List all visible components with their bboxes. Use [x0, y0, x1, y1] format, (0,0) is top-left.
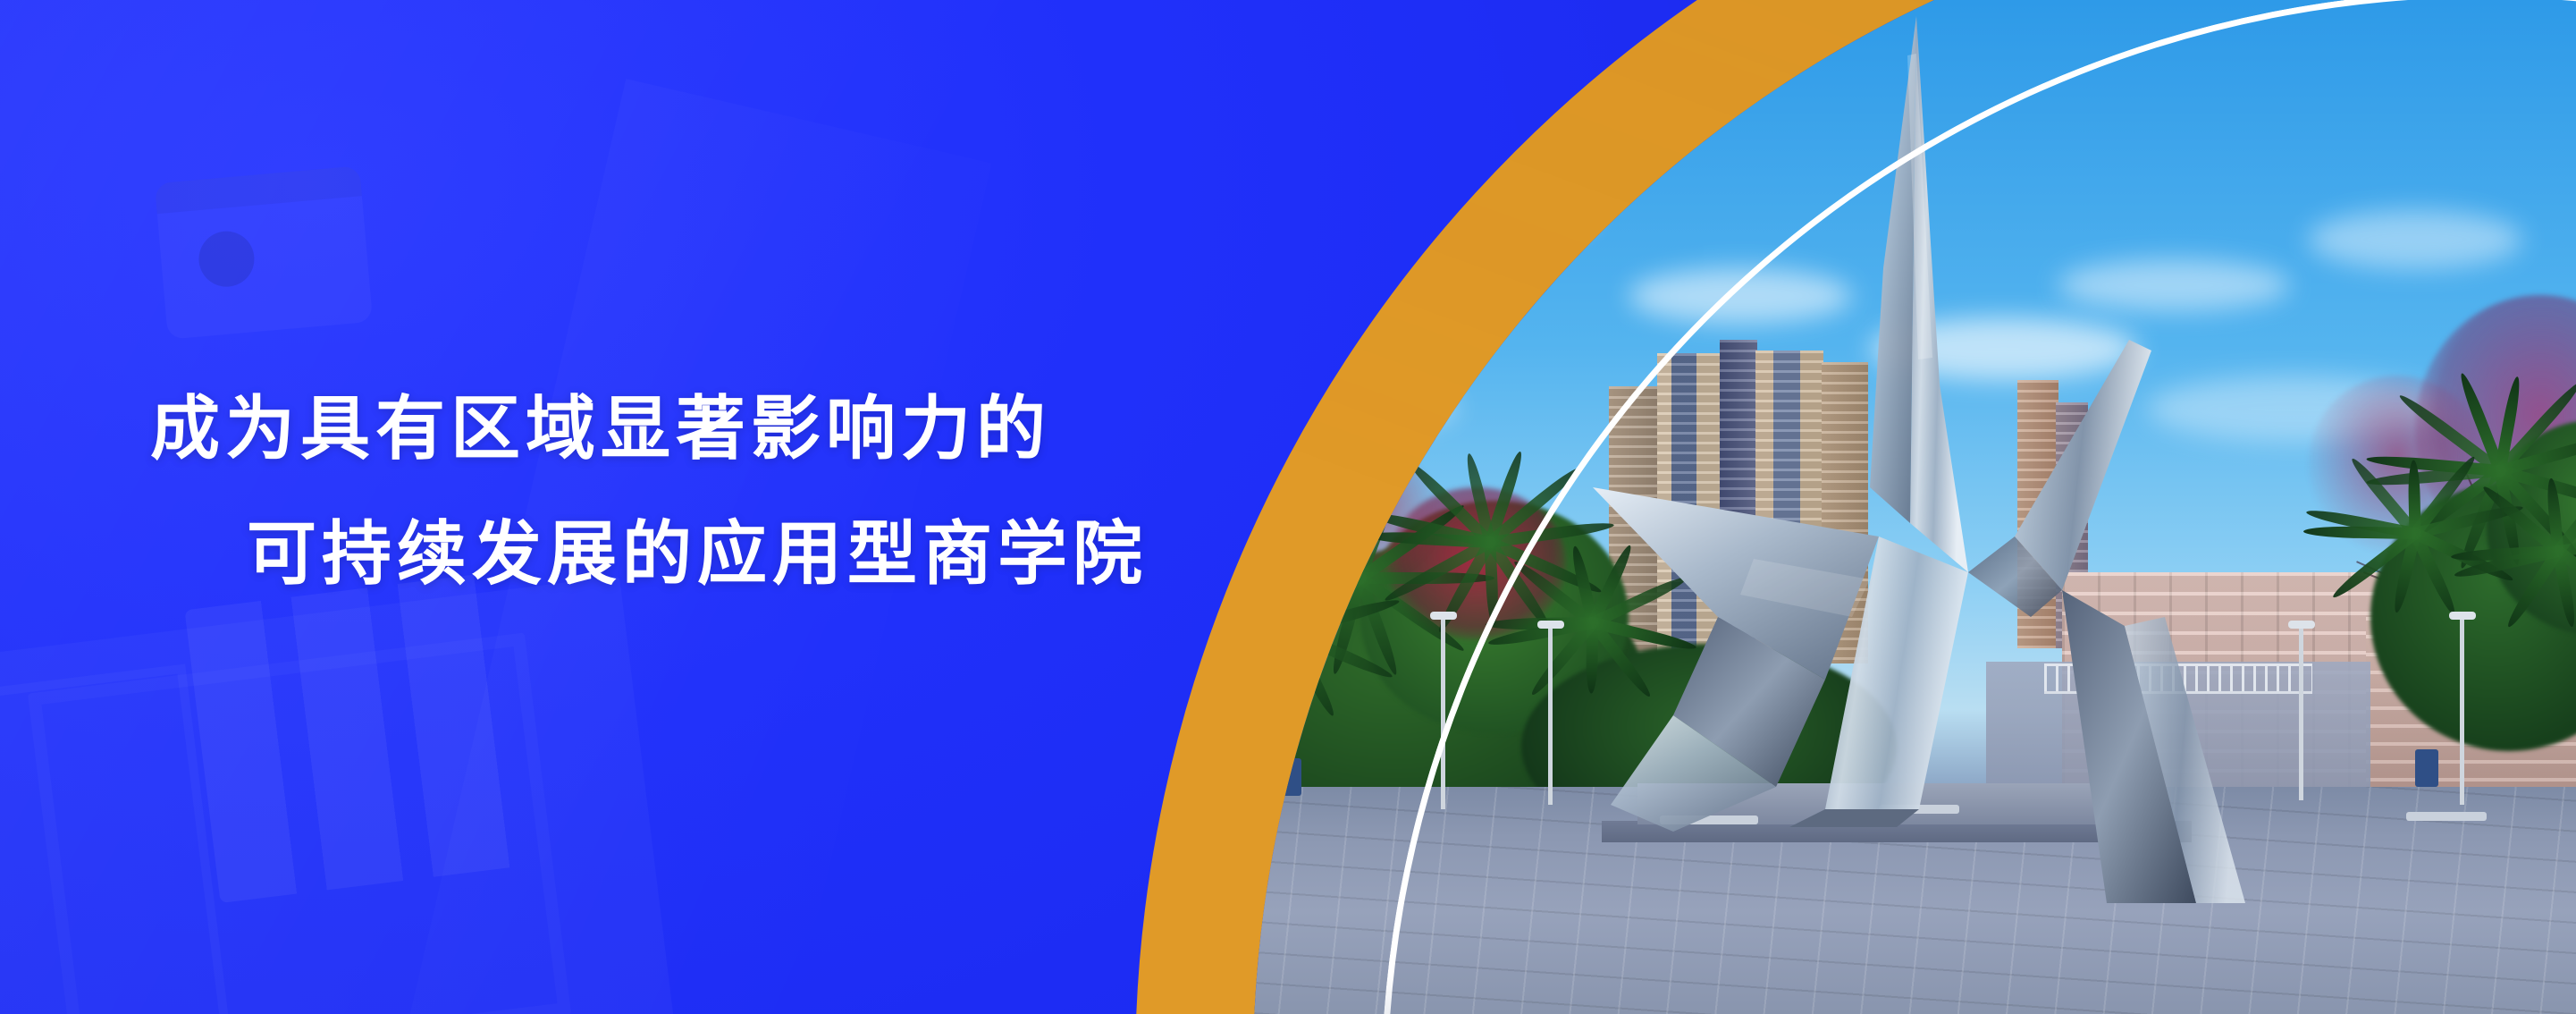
- headline-line-1: 成为具有区域显著影响力的: [150, 390, 1051, 468]
- headline-line-2: 可持续发展的应用型商学院: [150, 492, 1148, 617]
- hero-banner: 成为具有区域显著影响力的 可持续发展的应用型商学院: [0, 0, 2576, 1014]
- banner-headline: 成为具有区域显著影响力的 可持续发展的应用型商学院: [150, 367, 1148, 617]
